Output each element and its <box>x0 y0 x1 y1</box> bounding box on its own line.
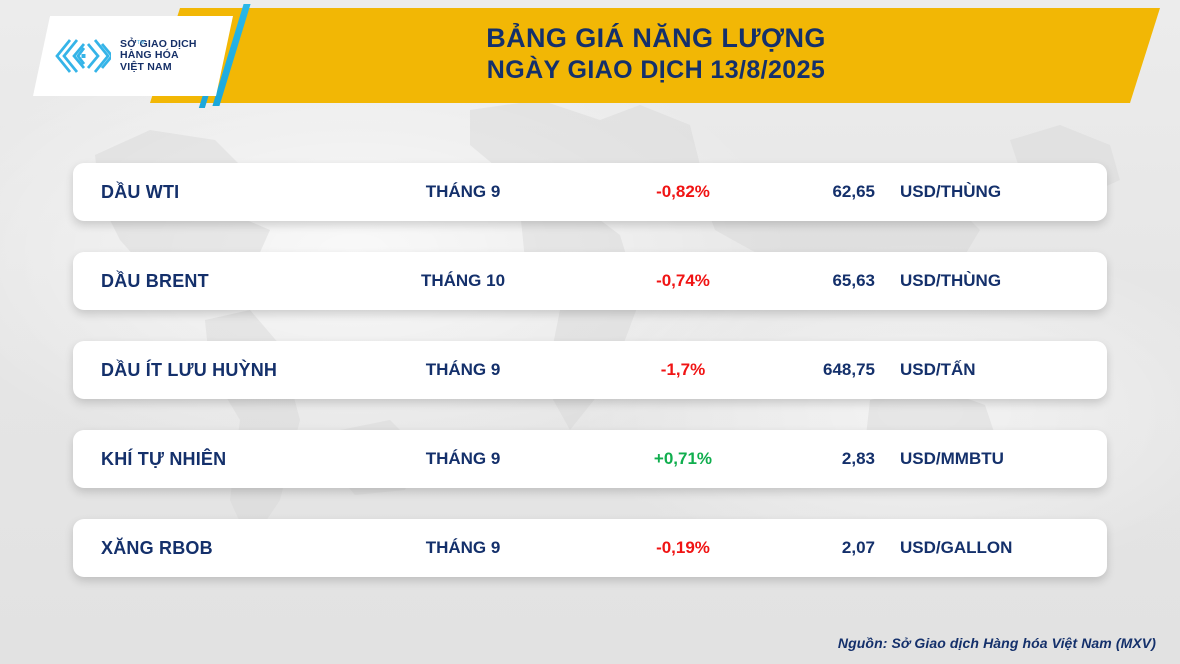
table-row[interactable]: DẦU WTITHÁNG 9-0,82%62,65USD/THÙNG <box>73 163 1107 221</box>
row-price: 65,63 <box>773 252 875 310</box>
page-title: BẢNG GIÁ NĂNG LƯỢNG <box>246 22 1066 54</box>
row-unit: USD/MMBTU <box>900 430 1004 488</box>
row-price: 2,07 <box>773 519 875 577</box>
row-change-percent: -0,82% <box>593 163 773 221</box>
row-contract-month: THÁNG 10 <box>373 252 553 310</box>
row-commodity-name: DẦU BRENT <box>101 252 209 310</box>
page-subtitle: NGÀY GIAO DỊCH 13/8/2025 <box>246 54 1066 86</box>
page-header: TM SỞ GIAO DỊCH HÀNG HÓA VIỆT NAM BẢNG G… <box>0 0 1180 112</box>
price-table: DẦU WTITHÁNG 9-0,82%62,65USD/THÙNGDẦU BR… <box>73 163 1107 608</box>
table-row[interactable]: XĂNG RBOBTHÁNG 9-0,19%2,07USD/GALLON <box>73 519 1107 577</box>
logo-line-3: VIỆT NAM <box>120 62 197 74</box>
row-contract-month: THÁNG 9 <box>373 163 553 221</box>
logo-trademark: TM <box>137 40 145 46</box>
row-contract-month: THÁNG 9 <box>373 341 553 399</box>
table-row[interactable]: KHÍ TỰ NHIÊNTHÁNG 9+0,71%2,83USD/MMBTU <box>73 430 1107 488</box>
row-unit: USD/TẤN <box>900 341 976 399</box>
row-price: 2,83 <box>773 430 875 488</box>
row-commodity-name: KHÍ TỰ NHIÊN <box>101 430 226 488</box>
row-commodity-name: DẦU WTI <box>101 163 179 221</box>
row-commodity-name: DẦU ÍT LƯU HUỲNH <box>101 341 277 399</box>
row-unit: USD/GALLON <box>900 519 1012 577</box>
header-title-block: BẢNG GIÁ NĂNG LƯỢNG NGÀY GIAO DỊCH 13/8/… <box>246 22 1066 86</box>
row-change-percent: -0,74% <box>593 252 773 310</box>
row-unit: USD/THÙNG <box>900 163 1001 221</box>
mxv-chevron-logo-icon <box>55 38 111 74</box>
row-price: 648,75 <box>773 341 875 399</box>
logo-wordmark: SỞ GIAO DỊCH HÀNG HÓA VIỆT NAM <box>120 39 197 74</box>
source-note: Nguồn: Sở Giao dịch Hàng hóa Việt Nam (M… <box>838 635 1156 651</box>
row-price: 62,65 <box>773 163 875 221</box>
row-change-percent: +0,71% <box>593 430 773 488</box>
row-unit: USD/THÙNG <box>900 252 1001 310</box>
logo-panel: TM SỞ GIAO DỊCH HÀNG HÓA VIỆT NAM <box>33 16 233 96</box>
table-row[interactable]: DẦU ÍT LƯU HUỲNHTHÁNG 9-1,7%648,75USD/TẤ… <box>73 341 1107 399</box>
row-change-percent: -1,7% <box>593 341 773 399</box>
row-change-percent: -0,19% <box>593 519 773 577</box>
row-contract-month: THÁNG 9 <box>373 519 553 577</box>
row-contract-month: THÁNG 9 <box>373 430 553 488</box>
table-row[interactable]: DẦU BRENTTHÁNG 10-0,74%65,63USD/THÙNG <box>73 252 1107 310</box>
row-commodity-name: XĂNG RBOB <box>101 519 213 577</box>
